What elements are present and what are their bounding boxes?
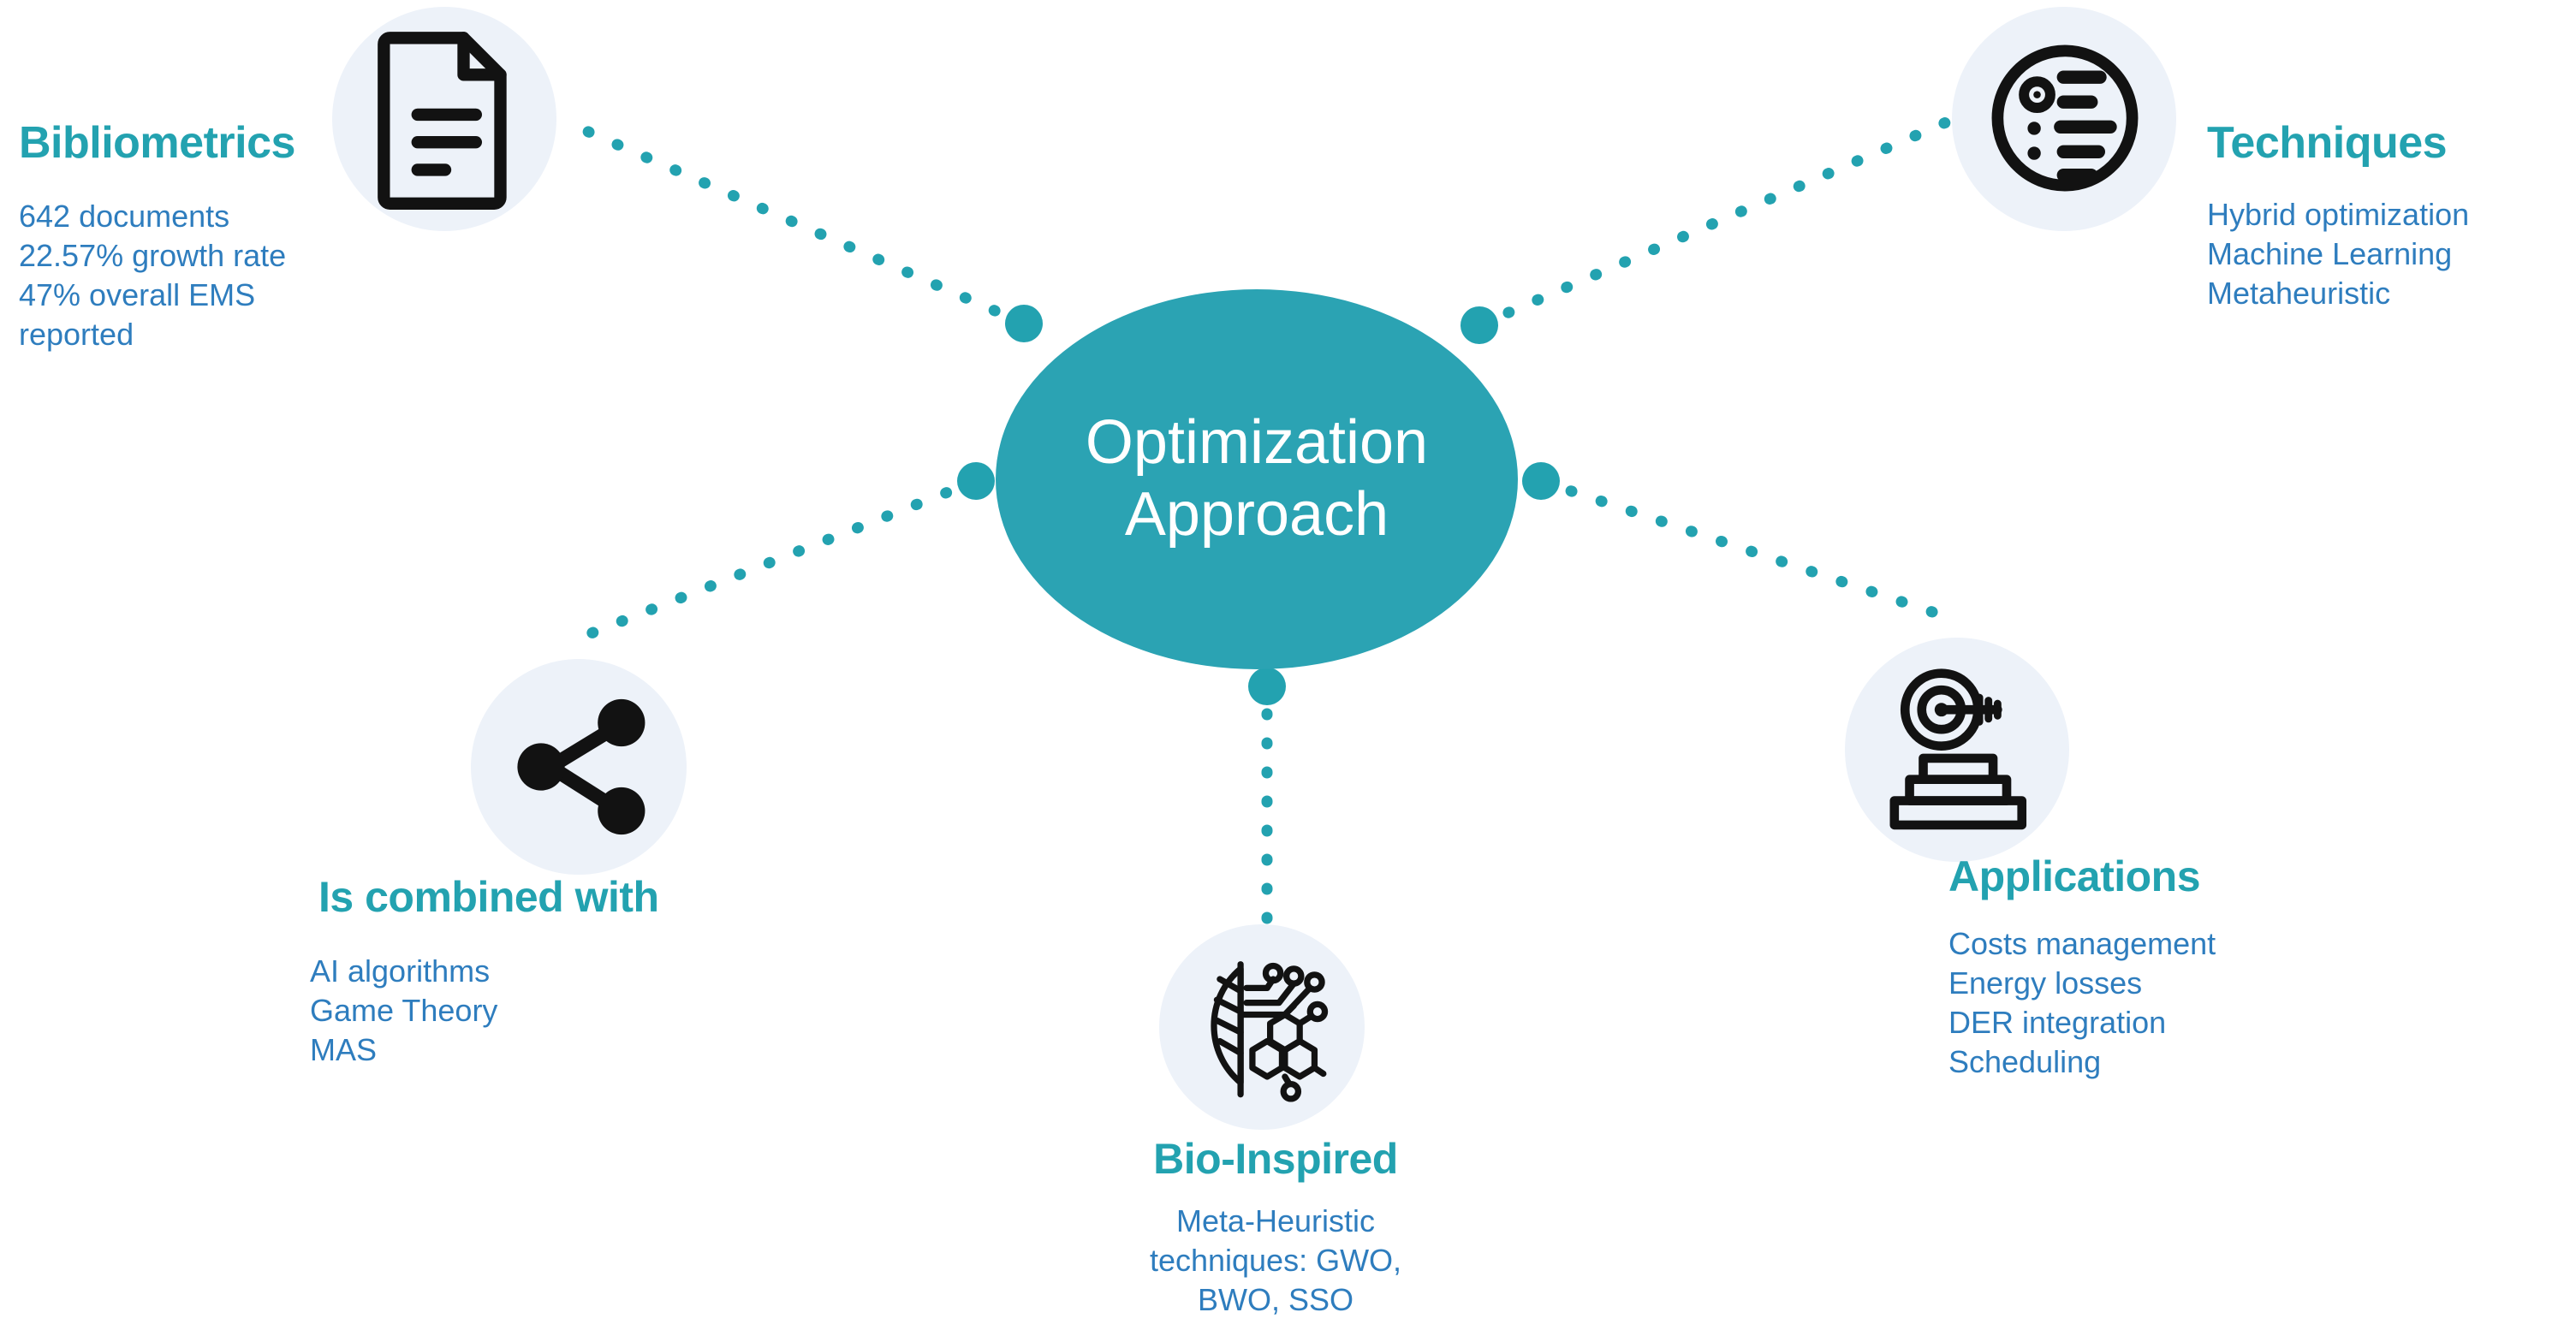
techniques-heading: Techniques (2207, 120, 2447, 167)
center-node-line2: Approach (1086, 479, 1428, 551)
list-item: Energy losses (1948, 964, 2216, 1003)
list-item: BWO, SSO (1053, 1280, 1498, 1320)
is-combined-with-items: AI algorithms Game Theory MAS (310, 952, 497, 1070)
list-item: Game Theory (310, 991, 497, 1030)
list-item: techniques: GWO, (1053, 1241, 1498, 1280)
is-combined-with-heading: Is combined with (318, 875, 659, 920)
bio-inspired-heading: Bio-Inspired (1053, 1137, 1498, 1182)
share-nodes-icon (502, 688, 659, 846)
list-item: Hybrid optimization (2207, 195, 2469, 235)
list-item: Costs management (1948, 924, 2216, 964)
anchor-dot-applications (1522, 462, 1560, 500)
branch-applications[interactable]: Applications Costs management Energy los… (1841, 633, 2491, 1113)
document-icon (368, 26, 522, 210)
list-item: Meta-Heuristic (1053, 1202, 1498, 1241)
branch-bibliometrics[interactable]: Bibliometrics 642 documents 22.57% growt… (0, 0, 565, 377)
branch-is-combined-with[interactable]: Is combined with AI algorithms Game Theo… (257, 633, 856, 1113)
techniques-items: Hybrid optimization Machine Learning Met… (2207, 195, 2469, 313)
bio-inspired-items: Meta-Heuristic techniques: GWO, BWO, SSO (1053, 1202, 1498, 1320)
list-item: AI algorithms (310, 952, 497, 991)
list-item: DER integration (1948, 1003, 2216, 1042)
list-item: reported (19, 315, 286, 354)
center-node[interactable]: Optimization Approach (996, 289, 1518, 669)
connector-is-combined-with (565, 481, 976, 644)
branch-bio-inspired[interactable]: Bio-Inspired Meta-Heuristic techniques: … (1053, 907, 1498, 1342)
applications-items: Costs management Energy losses DER integ… (1948, 924, 2216, 1082)
applications-heading: Applications (1948, 854, 2200, 900)
anchor-dot-bibliometrics (1005, 305, 1043, 342)
center-node-line1: Optimization (1086, 407, 1428, 479)
list-item: MAS (310, 1030, 497, 1070)
list-item: Metaheuristic (2207, 274, 2469, 313)
anchor-dot-bio-inspired (1248, 668, 1286, 705)
leaf-molecule-icon (1181, 947, 1344, 1109)
connector-bibliometrics (565, 122, 1024, 324)
diagram-canvas: Optimization Approach Bibliometrics 642 … (0, 0, 2576, 1342)
anchor-dot-is-combined-with (957, 462, 995, 500)
list-item: 22.57% growth rate (19, 236, 286, 276)
connector-applications (1541, 481, 1960, 621)
bibliometrics-heading: Bibliometrics (19, 120, 295, 167)
settings-list-icon (1984, 38, 2145, 199)
bibliometrics-items: 642 documents 22.57% growth rate 47% ove… (19, 197, 286, 354)
center-node-label: Optimization Approach (1086, 407, 1428, 550)
list-item: 642 documents (19, 197, 286, 236)
branch-techniques[interactable]: Techniques Hybrid optimization Machine L… (1943, 0, 2576, 342)
list-item: Machine Learning (2207, 235, 2469, 274)
target-podium-icon (1873, 664, 2040, 831)
list-item: 47% overall EMS (19, 276, 286, 315)
connector-techniques (1479, 120, 1952, 325)
list-item: Scheduling (1948, 1042, 2216, 1082)
anchor-dot-techniques (1461, 306, 1498, 344)
